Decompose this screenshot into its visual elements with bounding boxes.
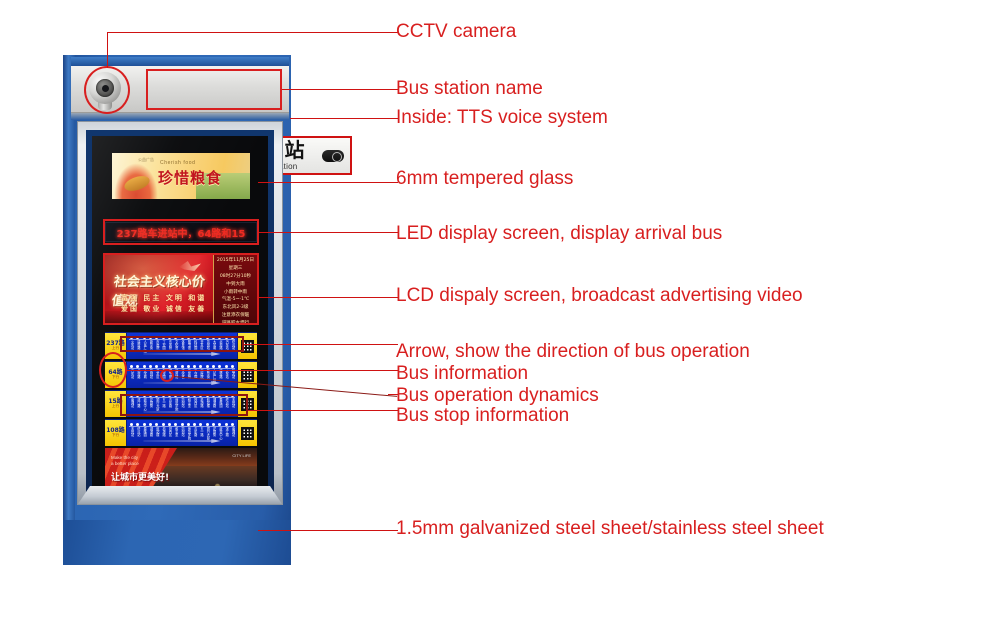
header-shadow xyxy=(71,113,289,120)
bus-stop: 建设路 xyxy=(217,365,222,379)
bus-stop: 凯创站 xyxy=(180,423,185,437)
stop-dot xyxy=(168,423,171,426)
annotation-station-name: Bus station name xyxy=(396,79,543,98)
bus-stop: 大学城 xyxy=(142,365,147,379)
stop-dot xyxy=(130,423,133,426)
stop-dot xyxy=(149,365,152,368)
leader-station-name xyxy=(282,89,395,90)
bus-stop: 湖滨路 xyxy=(148,423,153,437)
stop-name: 五一路 xyxy=(199,427,202,437)
route-stop-strip: 末班站终点站春晖园湖滨路航站楼机场路铁西区和平里凯创站师范学院青年路五一路银行大… xyxy=(127,420,237,446)
bus-stop: 末班站 xyxy=(129,423,134,437)
stop-dot xyxy=(181,423,184,426)
annotation-led: LED display screen, display arrival bus xyxy=(396,224,722,243)
stop-dot xyxy=(231,365,234,368)
bus-stop: 青年路 xyxy=(192,423,197,437)
stop-name: 政务中心 xyxy=(218,427,221,440)
poster-title-en: Cherish food xyxy=(160,160,196,166)
annotation-glass: 6mm tempered glass xyxy=(396,169,573,188)
stop-dot xyxy=(225,365,228,368)
leader-led xyxy=(259,232,395,233)
stop-dot xyxy=(130,365,133,368)
bus-stop: 春晖园 xyxy=(142,423,147,437)
stop-dot xyxy=(136,365,139,368)
annotation-lcd: LCD dispaly screen, broadcast advertisin… xyxy=(396,286,803,305)
route-panel: 64路下行汽车站北苑路大学城凯创站开发区科技园图书馆体育馆文化宫东风桥工业园市医… xyxy=(105,361,257,388)
bus-stop: 和平里 xyxy=(173,423,178,437)
poster-corner-text: 公益广告 xyxy=(138,157,154,163)
bus-stop: 工业园 xyxy=(192,365,197,379)
stop-dot xyxy=(174,365,177,368)
annotation-arrow: Arrow, show the direction of bus operati… xyxy=(396,342,750,361)
header-housing xyxy=(71,57,289,66)
annotation-stop-information: Bus stop information xyxy=(396,406,569,425)
route-tag: 扫码乘车 xyxy=(242,363,256,368)
stop-dot xyxy=(136,423,139,426)
ad-logo: CITY LIFE xyxy=(232,453,251,458)
highlight-cctv xyxy=(84,66,130,114)
leader-tts xyxy=(290,118,395,119)
stop-name: 青年路 xyxy=(193,427,196,437)
bus-stop: 师范学院 xyxy=(186,423,191,440)
bus-stop: 凯创站 xyxy=(148,365,153,379)
route-stop-strip: 汽车站北苑路大学城凯创站开发区科技园图书馆体育馆文化宫东风桥工业园市医院新华街人… xyxy=(127,362,237,388)
stop-dot xyxy=(231,423,234,426)
highlight-lcd-screen xyxy=(103,253,259,325)
stop-dot xyxy=(199,423,202,426)
annotation-cctv: CCTV camera xyxy=(396,22,516,41)
stop-name: 和平里 xyxy=(174,427,177,437)
leader-steel xyxy=(258,530,395,531)
leader-arrow xyxy=(244,344,395,345)
stop-dot xyxy=(225,423,228,426)
highlight-station-name xyxy=(146,69,282,110)
stop-dot xyxy=(143,365,146,368)
bus-stop: 铁西区 xyxy=(167,423,172,437)
cabinet-foot xyxy=(78,486,282,504)
stop-dot xyxy=(168,365,171,368)
stop-name: 南湖站 xyxy=(231,427,234,437)
top-poster-ad: 公益广告 Cherish food 珍惜粮食 xyxy=(112,153,250,199)
stop-name: 机场路 xyxy=(161,427,164,437)
stop-dot xyxy=(187,423,190,426)
leader-bus-information xyxy=(127,370,395,371)
bus-stop: 新华街 xyxy=(205,365,210,379)
route-tag: 扫码乘车 xyxy=(242,421,256,426)
stop-name: 铁西区 xyxy=(168,427,171,437)
stop-name: 湖滨路 xyxy=(149,427,152,437)
route-direction-label: 上行 xyxy=(112,405,119,409)
highlight-bus-information xyxy=(99,352,127,388)
route-tag: 扫码乘车 xyxy=(242,334,256,339)
annotation-bus-information: Bus information xyxy=(396,364,528,383)
stop-name: 凯创站 xyxy=(180,427,183,437)
stop-dot xyxy=(155,423,158,426)
leader-cctv-vertical xyxy=(107,32,108,68)
stop-name: 航站楼 xyxy=(155,427,158,437)
bus-stop: 始发站 xyxy=(230,365,235,379)
stop-dot xyxy=(162,423,165,426)
highlight-led-screen xyxy=(103,219,259,245)
stop-dot xyxy=(155,365,158,368)
leader-glass xyxy=(258,182,395,183)
route-direction-label: 上行 xyxy=(112,347,119,351)
stop-dot xyxy=(199,365,202,368)
kiosk-base-cabinet xyxy=(63,520,291,565)
stop-dot xyxy=(187,365,190,368)
stop-name: 花园街 xyxy=(212,427,215,437)
poster-title-cn: 珍惜粮食 xyxy=(158,167,222,188)
stop-dot xyxy=(218,423,221,426)
direction-arrow-icon xyxy=(144,352,221,356)
bus-stop: 市医院 xyxy=(198,365,203,379)
bus-stop: 政务中心 xyxy=(217,423,222,440)
stop-name: 春晖园 xyxy=(143,427,146,437)
leader-lcd xyxy=(259,297,395,298)
speaker-icon xyxy=(322,150,344,162)
stop-dot xyxy=(212,365,215,368)
stop-name: 银行大厦 xyxy=(206,427,209,440)
stop-dot xyxy=(162,365,165,368)
annotation-steel: 1.5mm galvanized steel sheet/stainless s… xyxy=(396,519,824,538)
bus-stop: 航站楼 xyxy=(154,423,159,437)
direction-arrow-icon xyxy=(144,381,221,385)
bus-stop: 滨江路 xyxy=(224,423,229,437)
bus-stop: 北苑路 xyxy=(135,365,140,379)
stop-name: 师范学院 xyxy=(187,427,190,440)
highlight-direction-arrow xyxy=(120,336,244,352)
stop-dot xyxy=(174,423,177,426)
bus-stop: 汽车站 xyxy=(129,365,134,379)
stop-name: 末班站 xyxy=(130,427,133,437)
stop-dot xyxy=(181,365,184,368)
stop-dot xyxy=(206,423,209,426)
diagram-canvas: 凯创站 Kaich Station 公益广告 Cherish food 珍惜粮食… xyxy=(0,0,1000,640)
bus-stop: 南湖站 xyxy=(230,423,235,437)
bottom-advertisement: CITY LIFE Make the city a better place 让… xyxy=(105,448,257,486)
stop-dot xyxy=(149,423,152,426)
stop-dot xyxy=(193,365,196,368)
stop-name: 终点站 xyxy=(136,427,139,437)
kiosk-left-edge xyxy=(63,55,75,565)
stop-row: 末班站终点站春晖园湖滨路航站楼机场路铁西区和平里凯创站师范学院青年路五一路银行大… xyxy=(129,423,235,438)
leader-stop-information xyxy=(248,410,395,411)
leader-cctv-horizontal xyxy=(107,32,395,33)
bus-stop: 五一路 xyxy=(198,423,203,437)
stop-dot xyxy=(143,423,146,426)
route-direction-label: 下行 xyxy=(112,434,119,438)
highlight-bus-stop-information xyxy=(120,394,248,416)
ad-en-line-2: a better place xyxy=(111,461,139,467)
annotation-dynamics: Bus operation dynamics xyxy=(396,386,599,405)
stop-dot xyxy=(218,365,221,368)
stop-dot xyxy=(206,365,209,368)
bus-stop: 银行大厦 xyxy=(205,423,210,440)
stop-name: 滨江路 xyxy=(225,427,228,437)
bus-stop: 花园街 xyxy=(211,423,216,437)
bus-stop: 机场路 xyxy=(161,423,166,437)
bus-stop: 开发区 xyxy=(154,365,159,379)
ad-cn-slogan: 让城市更美好! xyxy=(111,470,169,483)
bus-stop: 火车站 xyxy=(224,365,229,379)
bus-stop: 终点站 xyxy=(135,423,140,437)
route-badge: 108路下行 xyxy=(105,420,127,446)
route-panel: 108路下行末班站终点站春晖园湖滨路航站楼机场路铁西区和平里凯创站师范学院青年路… xyxy=(105,419,257,446)
annotation-tts: Inside: TTS voice system xyxy=(396,108,608,127)
stop-dot xyxy=(193,423,196,426)
qr-code-icon xyxy=(241,427,254,440)
stop-dot xyxy=(212,423,215,426)
